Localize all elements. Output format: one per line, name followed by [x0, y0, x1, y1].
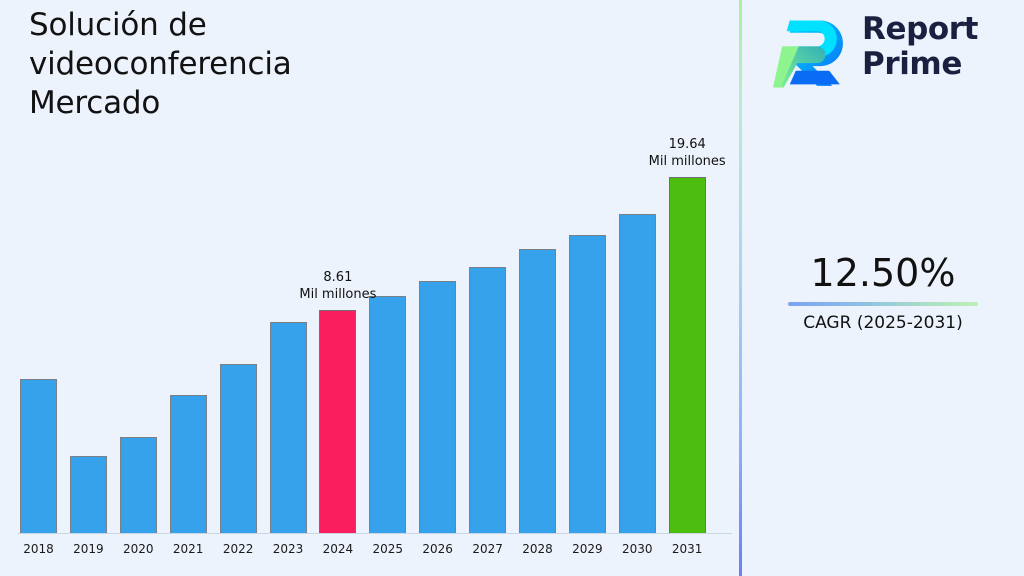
bar-2029[interactable] — [569, 235, 606, 533]
bar-2023[interactable] — [270, 322, 307, 533]
x-axis-line — [18, 533, 732, 534]
cagr-value: 12.50% — [742, 250, 1024, 296]
value-callout-2024: 8.61Mil millones — [263, 269, 413, 303]
chart-panel: Solución de videoconferencia Mercado 201… — [0, 0, 740, 576]
brand-logo: Report Prime — [772, 12, 1002, 96]
brand-panel: Report Prime 12.50% CAGR (2025-2031) — [742, 0, 1024, 576]
value-callout-unit-2024: Mil millones — [263, 286, 413, 303]
bar-2028[interactable] — [519, 249, 556, 533]
brand-name-line-2: Prime — [862, 47, 1007, 82]
bar-2018[interactable] — [20, 379, 57, 533]
brand-name-line-1: Report — [862, 12, 1007, 47]
bar-2020[interactable] — [120, 437, 157, 533]
cagr-label: CAGR (2025-2031) — [742, 312, 1024, 334]
cagr-divider-rule — [788, 302, 978, 306]
cagr-block: 12.50% CAGR (2025-2031) — [742, 250, 1024, 334]
x-axis-label-2031: 2031 — [657, 542, 717, 556]
bar-2025[interactable] — [369, 296, 406, 533]
infographic-page: Solución de videoconferencia Mercado 201… — [0, 0, 1024, 576]
report-prime-r-mark-icon — [772, 16, 850, 92]
bar-2021[interactable] — [170, 395, 207, 533]
bar-2031[interactable] — [669, 177, 706, 533]
bar-2019[interactable] — [70, 456, 107, 533]
bar-2030[interactable] — [619, 214, 656, 533]
bar-2024[interactable] — [319, 310, 356, 533]
brand-name: Report Prime — [862, 12, 1007, 82]
bar-2022[interactable] — [220, 364, 257, 533]
value-callout-number-2024: 8.61 — [263, 269, 413, 286]
bar-chart: 2018201920202021202220232024202520262027… — [0, 0, 740, 576]
bar-2027[interactable] — [469, 267, 506, 533]
bar-2026[interactable] — [419, 281, 456, 533]
